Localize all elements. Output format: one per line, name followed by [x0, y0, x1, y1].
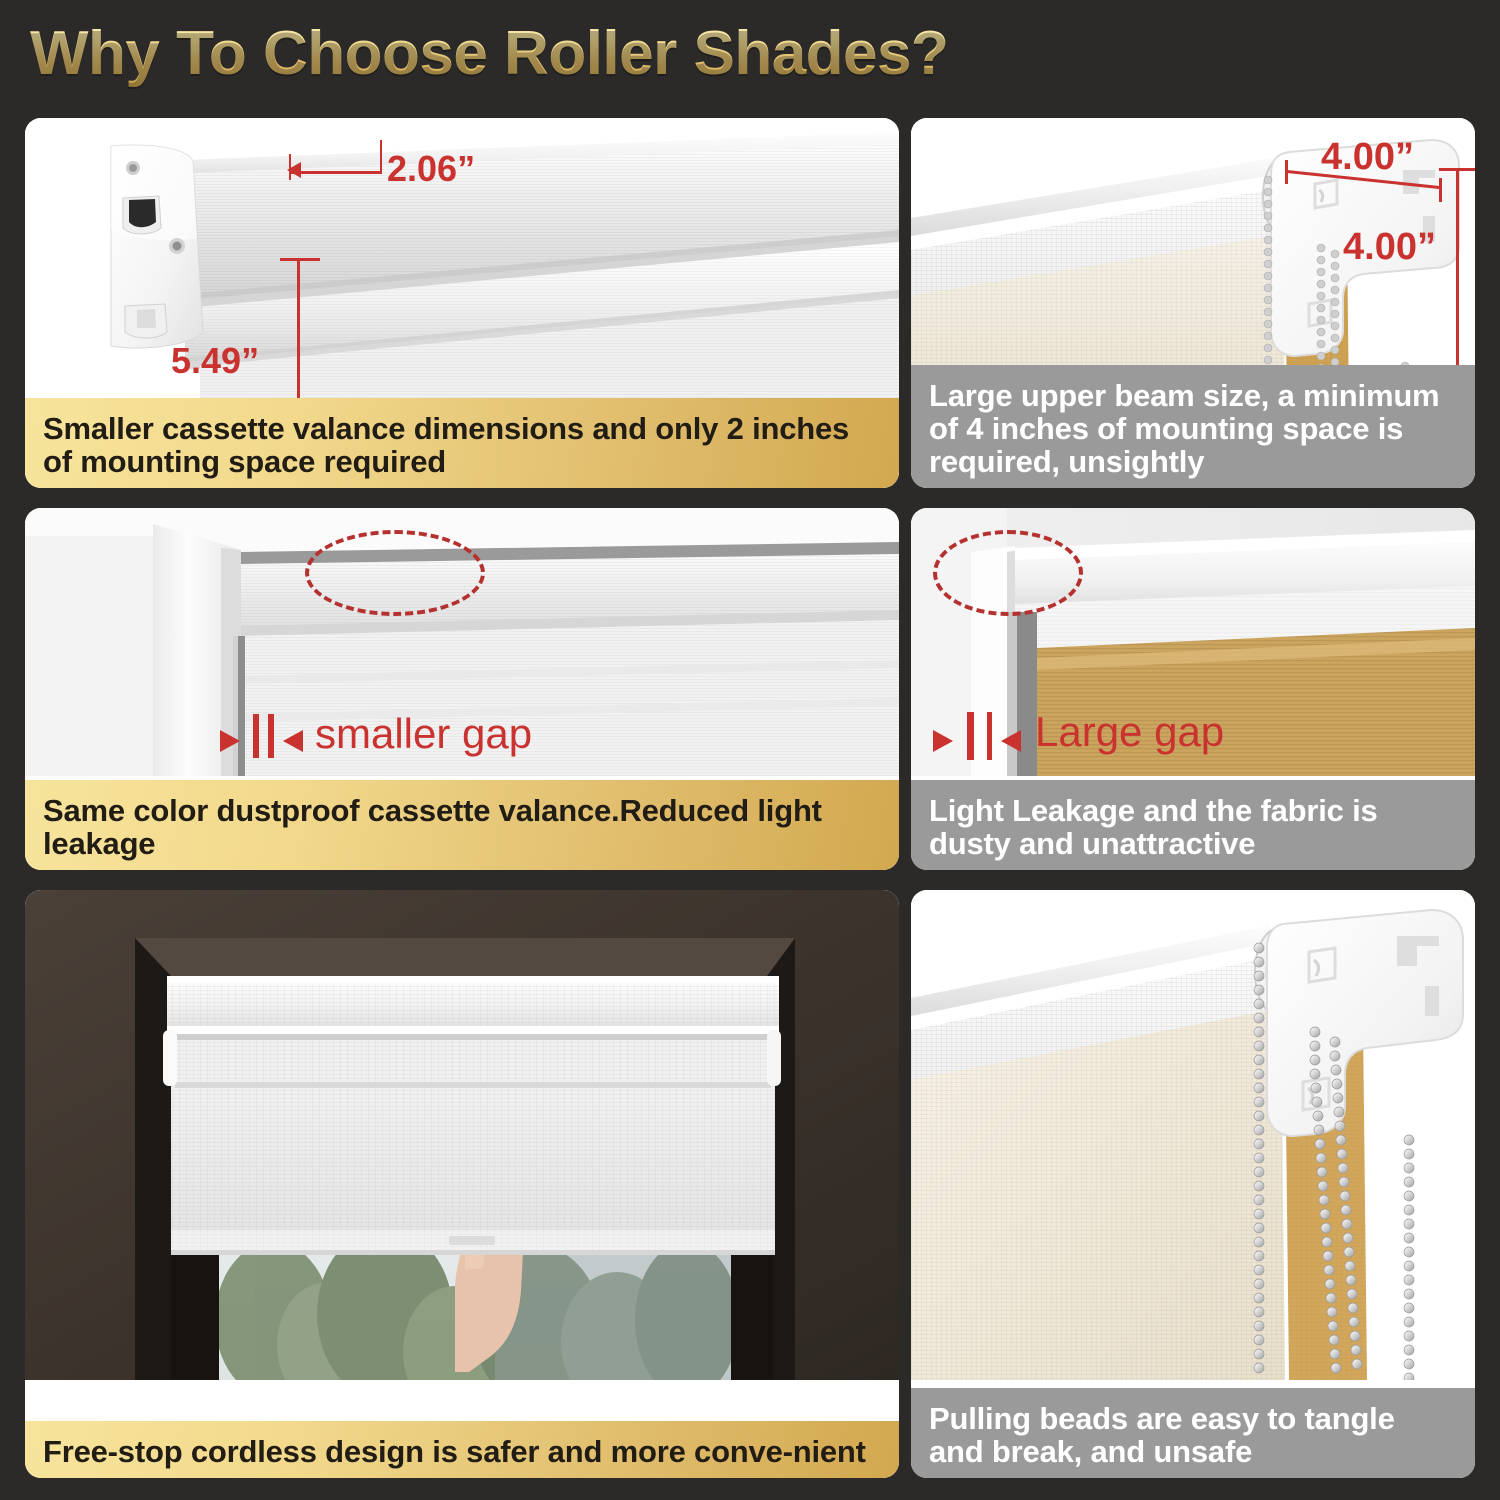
photo-window-room-scene — [25, 890, 899, 1478]
caption-panel-1: Smaller cassette valance dimensions and … — [25, 398, 899, 488]
panel-free-stop-cordless-design: Free-stop cordless design is safer and m… — [25, 890, 899, 1478]
gap-label-smaller: smaller gap — [315, 710, 532, 758]
gap-arrow-left-icon — [1001, 730, 1021, 752]
dim-arrow-left-icon — [287, 162, 301, 178]
panel-cassette-valance-dimensions: 2.06” 5.49” Smaller cassette valance dim… — [25, 118, 899, 488]
dim-extension-top — [280, 258, 320, 261]
bead-chain-4 — [1404, 1135, 1414, 1380]
gap-highlight-ellipse — [933, 530, 1083, 616]
page-title: Why To Choose Roller Shades? — [30, 18, 948, 89]
beam-dim-line-height — [1456, 168, 1459, 368]
caption-panel-4: Light Leakage and the fabric is dusty an… — [911, 780, 1475, 870]
dim-tick-right — [380, 140, 382, 174]
caption-panel-5: Free-stop cordless design is safer and m… — [25, 1421, 899, 1478]
beam-dim-label-height: 4.00” — [1343, 226, 1436, 269]
beam-dim-label-width: 4.00” — [1321, 136, 1414, 179]
bead-chain-shade-illustration — [911, 890, 1475, 1380]
dim-line-width — [291, 171, 381, 174]
beam-dim-ext-top — [1439, 168, 1475, 171]
gap-arrow-left-icon — [283, 730, 303, 752]
gap-marker-right — [268, 714, 274, 758]
caption-panel-3: Same color dustproof cassette valance.Re… — [25, 780, 899, 870]
caption-panel-6: Pulling beads are easy to tangle and bre… — [911, 1388, 1475, 1478]
gap-arrow-right-icon — [933, 730, 953, 752]
panel-large-upper-beam: 4.00” 4.00” Large upper beam size, a min… — [911, 118, 1475, 488]
beam-dim-tick-right — [1439, 178, 1442, 202]
gap-highlight-ellipse — [305, 530, 485, 616]
gap-label-large: Large gap — [1035, 708, 1224, 756]
gap-arrow-right-icon — [220, 730, 240, 752]
panel-light-leakage-dusty-fabric: Large gap Light Leakage and the fabric i… — [911, 508, 1475, 870]
gap-marker-left — [253, 714, 259, 758]
infographic-root: Why To Choose Roller Shades? — [0, 0, 1500, 1500]
gap-marker-right — [987, 712, 992, 760]
gap-marker-left — [967, 712, 974, 760]
panel-pulling-beads-tangle: Pulling beads are easy to tangle and bre… — [911, 890, 1475, 1478]
dim-label-width: 2.06” — [387, 148, 475, 190]
room-window-illustration — [25, 890, 899, 1380]
dim-label-height: 5.49” — [171, 340, 259, 382]
bead-chain-1 — [1254, 943, 1264, 1373]
panel-dustproof-cassette-valance: smaller gap Same color dustproof cassett… — [25, 508, 899, 870]
caption-panel-2: Large upper beam size, a minimum of 4 in… — [911, 365, 1475, 488]
